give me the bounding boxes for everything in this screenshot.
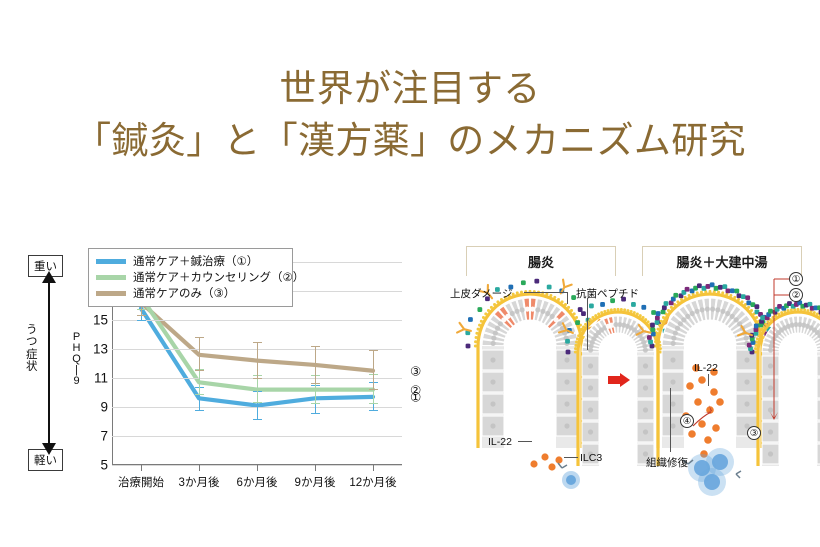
y-tick-label: 9 bbox=[84, 400, 108, 415]
y-tick-label: 15 bbox=[84, 313, 108, 328]
title-line-2: 「鍼灸」と「漢方薬」のメカニズム研究 bbox=[0, 118, 820, 166]
chart-legend: 通常ケア＋鍼治療（①） 通常ケア＋カウンセリング（②） 通常ケアのみ（③） bbox=[88, 248, 293, 307]
slide-root: 世界が注目する 「鍼灸」と「漢方薬」のメカニズム研究 重い 軽い うつ症状 PH… bbox=[0, 0, 820, 547]
x-tick-label: 9か月後 bbox=[295, 474, 336, 490]
legend-item: 通常ケア＋鍼治療（①） bbox=[96, 253, 285, 269]
legend-label-1: 通常ケア＋鍼治療（①） bbox=[133, 253, 258, 269]
series-end-marker: ② bbox=[410, 382, 421, 397]
gridline bbox=[112, 436, 402, 437]
legend-swatch-2 bbox=[96, 275, 126, 280]
x-tick bbox=[257, 465, 258, 471]
legend-item: 通常ケア＋カウンセリング（②） bbox=[96, 269, 285, 285]
y-tick-label: 5 bbox=[84, 458, 108, 473]
legend-label-3: 通常ケアのみ（③） bbox=[133, 285, 235, 301]
y-axis-title: PHQ|9 bbox=[70, 332, 83, 387]
x-tick bbox=[315, 465, 316, 471]
legend-swatch-1 bbox=[96, 259, 126, 264]
phq9-line-chart: 重い 軽い うつ症状 PHQ|9 1917151311975 治療開始3か月後6… bbox=[0, 240, 450, 500]
page-title: 世界が注目する 「鍼灸」と「漢方薬」のメカニズム研究 bbox=[0, 66, 820, 166]
legend-label-2: 通常ケア＋カウンセリング（②） bbox=[133, 269, 304, 285]
error-bar bbox=[199, 369, 200, 395]
y-tick-label: 13 bbox=[84, 342, 108, 357]
severity-axis-label: うつ症状 bbox=[24, 324, 40, 373]
error-bar bbox=[257, 342, 258, 380]
error-bar bbox=[373, 350, 374, 389]
error-bar bbox=[315, 346, 316, 384]
error-bar bbox=[199, 337, 200, 370]
legend-swatch-3 bbox=[96, 291, 126, 296]
intestine-mechanism-diagram: 腸炎 腸炎＋大建中湯 上皮ダメージ 抗菌ペプチド IL-22 ILC3 IL-2… bbox=[452, 240, 820, 510]
severity-arrow-icon bbox=[48, 282, 50, 444]
gridline bbox=[112, 320, 402, 321]
legend-item: 通常ケアのみ（③） bbox=[96, 285, 285, 301]
title-line-1: 世界が注目する bbox=[0, 66, 820, 114]
x-tick bbox=[141, 465, 142, 471]
series-end-marker: ③ bbox=[410, 363, 421, 378]
step-guides bbox=[452, 240, 820, 510]
y-tick-label: 11 bbox=[84, 371, 108, 386]
x-tick bbox=[199, 465, 200, 471]
x-tick-label: 3か月後 bbox=[179, 474, 220, 490]
y-tick-label: 7 bbox=[84, 429, 108, 444]
x-tick bbox=[373, 465, 374, 471]
x-tick-label: 6か月後 bbox=[237, 474, 278, 490]
x-tick-label: 12か月後 bbox=[349, 474, 396, 490]
x-tick-label: 治療開始 bbox=[118, 474, 164, 490]
